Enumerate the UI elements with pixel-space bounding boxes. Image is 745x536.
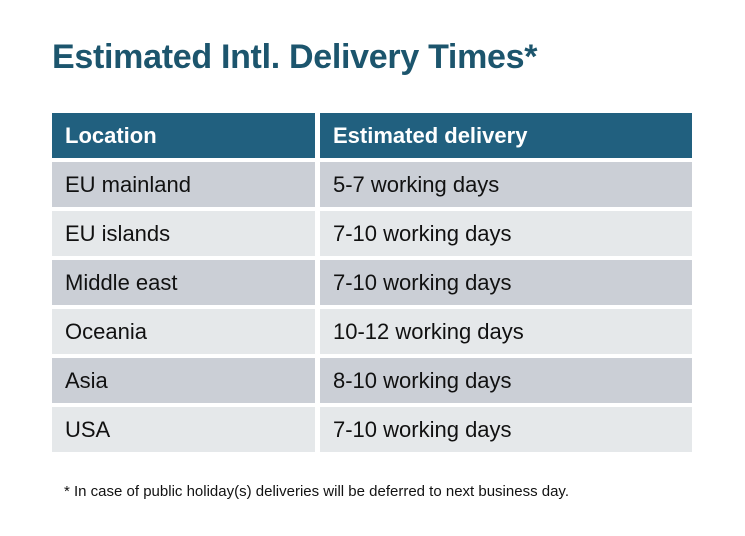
cell-estimated-delivery: 7-10 working days xyxy=(320,211,692,256)
cell-estimated-delivery: 8-10 working days xyxy=(320,358,692,403)
cell-location: Oceania xyxy=(52,309,315,354)
page-title: Estimated Intl. Delivery Times* xyxy=(52,36,537,78)
table-row: EU islands 7-10 working days xyxy=(52,211,692,256)
delivery-times-page: Estimated Intl. Delivery Times* Location… xyxy=(0,0,745,536)
cell-estimated-delivery: 10-12 working days xyxy=(320,309,692,354)
cell-location: EU mainland xyxy=(52,162,315,207)
column-header-estimated-delivery: Estimated delivery xyxy=(320,113,692,158)
cell-location: USA xyxy=(52,407,315,452)
cell-location: EU islands xyxy=(52,211,315,256)
table-header-row: Location Estimated delivery xyxy=(52,113,692,158)
table-row: Middle east 7-10 working days xyxy=(52,260,692,305)
cell-estimated-delivery: 5-7 working days xyxy=(320,162,692,207)
table-row: USA 7-10 working days xyxy=(52,407,692,452)
cell-estimated-delivery: 7-10 working days xyxy=(320,260,692,305)
cell-location: Middle east xyxy=(52,260,315,305)
cell-estimated-delivery: 7-10 working days xyxy=(320,407,692,452)
column-header-location: Location xyxy=(52,113,315,158)
delivery-times-table: Location Estimated delivery EU mainland … xyxy=(52,113,692,456)
table-row: Asia 8-10 working days xyxy=(52,358,692,403)
footnote-text: * In case of public holiday(s) deliverie… xyxy=(64,482,569,502)
table-row: EU mainland 5-7 working days xyxy=(52,162,692,207)
table-row: Oceania 10-12 working days xyxy=(52,309,692,354)
cell-location: Asia xyxy=(52,358,315,403)
